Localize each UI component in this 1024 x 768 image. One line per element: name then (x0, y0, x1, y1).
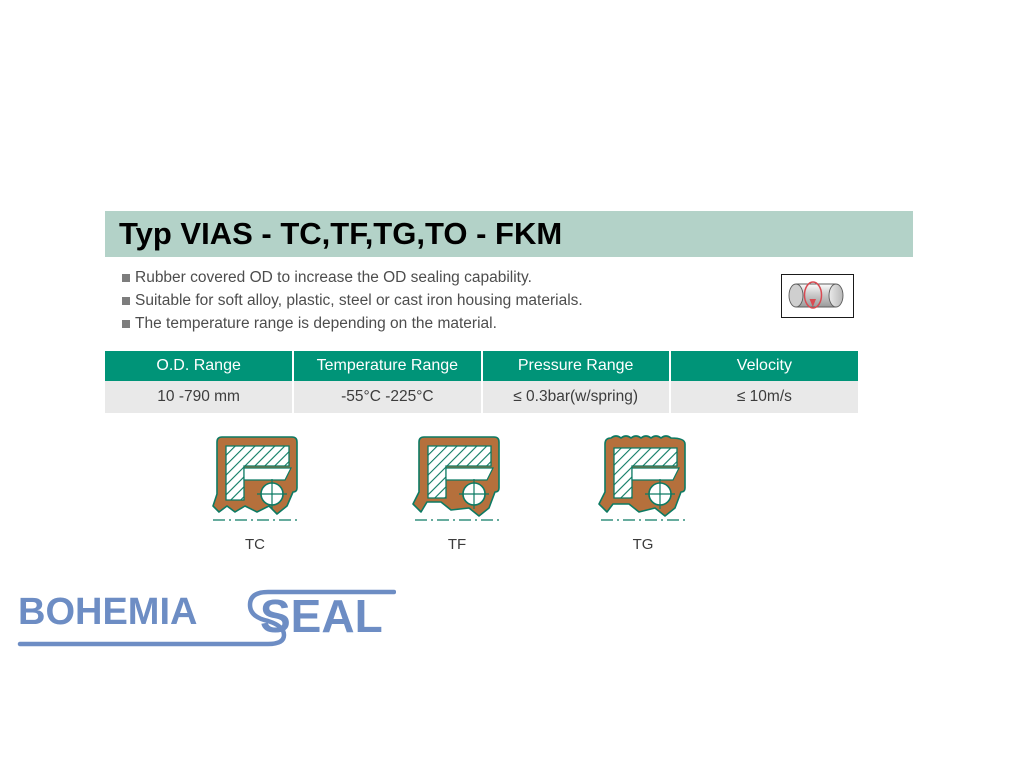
bohemia-seal-logo: BOHEMIA SEAL (16, 586, 396, 648)
column-header-pressure-range: Pressure Range (482, 351, 670, 381)
shaft-rotation-icon (781, 274, 854, 318)
feature-text: Suitable for soft alloy, plastic, steel … (135, 291, 583, 311)
seal-label-tc: TC (190, 536, 320, 553)
square-bullet-icon (122, 320, 130, 328)
logo-word-bohemia: BOHEMIA (18, 591, 197, 633)
cell-temperature-range: -55°C -225°C (293, 381, 481, 413)
cell-pressure-range: ≤ 0.3bar(w/spring) (482, 381, 670, 413)
table-header-row: O.D. Range Temperature Range Pressure Ra… (105, 351, 858, 381)
square-bullet-icon (122, 297, 130, 305)
logo-graphic: BOHEMIA SEAL (16, 586, 396, 648)
cell-velocity: ≤ 10m/s (670, 381, 858, 413)
feature-list: Rubber covered OD to increase the OD sea… (122, 268, 762, 337)
table-row: 10 -790 mm -55°C -225°C ≤ 0.3bar(w/sprin… (105, 381, 858, 413)
seal-label-tg: TG (578, 536, 708, 553)
list-item: The temperature range is depending on th… (122, 314, 762, 335)
title-band: Typ VIAS - TC,TF,TG,TO - FKM (105, 211, 913, 257)
column-header-od-range: O.D. Range (105, 351, 293, 381)
seal-figure-tf: TF (392, 432, 522, 553)
feature-text: The temperature range is depending on th… (135, 314, 497, 334)
shaft-rotation-graphic (782, 275, 852, 316)
square-bullet-icon (122, 274, 130, 282)
logo-word-seal: SEAL (260, 590, 383, 642)
seal-figure-tc: TC (190, 432, 320, 553)
seal-cross-section-tf (401, 432, 513, 530)
feature-text: Rubber covered OD to increase the OD sea… (135, 268, 532, 288)
seal-cross-section-tg (587, 432, 699, 530)
seal-cross-section-tc (199, 432, 311, 530)
cell-od-range: 10 -790 mm (105, 381, 293, 413)
seal-figure-tg: TG (578, 432, 708, 553)
list-item: Rubber covered OD to increase the OD sea… (122, 268, 762, 289)
specification-table: O.D. Range Temperature Range Pressure Ra… (105, 351, 858, 413)
page-title: Typ VIAS - TC,TF,TG,TO - FKM (119, 216, 562, 252)
column-header-velocity: Velocity (670, 351, 858, 381)
list-item: Suitable for soft alloy, plastic, steel … (122, 291, 762, 312)
column-header-temperature-range: Temperature Range (293, 351, 481, 381)
seal-label-tf: TF (392, 536, 522, 553)
